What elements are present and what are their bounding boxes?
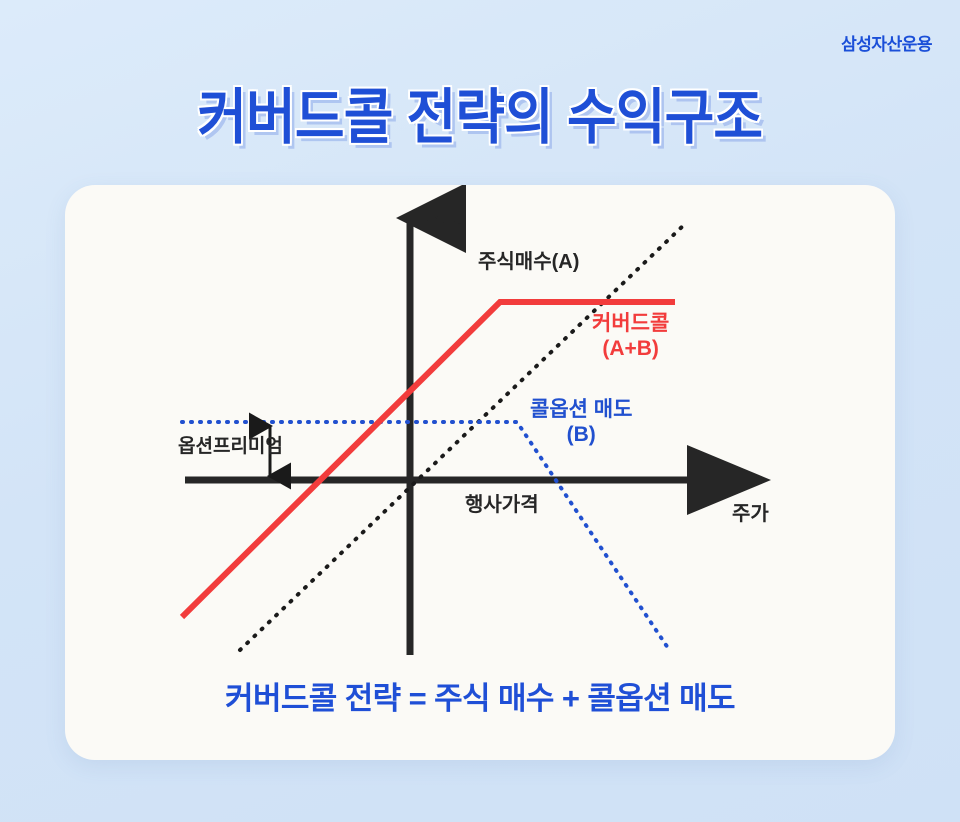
brand-logo-text: 삼성자산운용 <box>841 30 932 55</box>
chart-label-call-sell: 콜옵션 매도 (B) <box>530 398 632 448</box>
page-title: 커버드콜 전략의 수익구조 <box>0 84 960 154</box>
card-caption: 커버드콜 전략 = 주식 매수 + 콜옵션 매도 <box>65 673 895 718</box>
chart-label-covered-call-line1: 커버드콜 <box>592 312 669 337</box>
slide-root: 삼성자산운용 커버드콜 전략의 수익구조 <box>0 0 960 822</box>
chart-label-covered-call-line2: (A+B) <box>592 337 669 362</box>
chart-label-stock-price: 주가 <box>732 503 769 527</box>
chart-label-call-sell-line1: 콜옵션 매도 <box>530 398 632 423</box>
chart-label-strike-price: 행사가격 <box>465 494 539 518</box>
chart-label-call-sell-line2: (B) <box>530 423 632 448</box>
chart-label-option-premium: 옵션프리미엄 <box>178 436 283 458</box>
chart-label-yaxis: 수익 <box>425 211 464 236</box>
chart-label-stock-buy: 주식매수(A) <box>478 251 579 275</box>
chart-card: 수익 주식매수(A) 커버드콜 (A+B) 콜옵션 매도 (B) 옵션프리미엄 … <box>65 185 895 760</box>
chart-label-covered-call: 커버드콜 (A+B) <box>592 312 669 362</box>
page-title-text: 커버드콜 전략의 수익구조 <box>198 84 763 152</box>
